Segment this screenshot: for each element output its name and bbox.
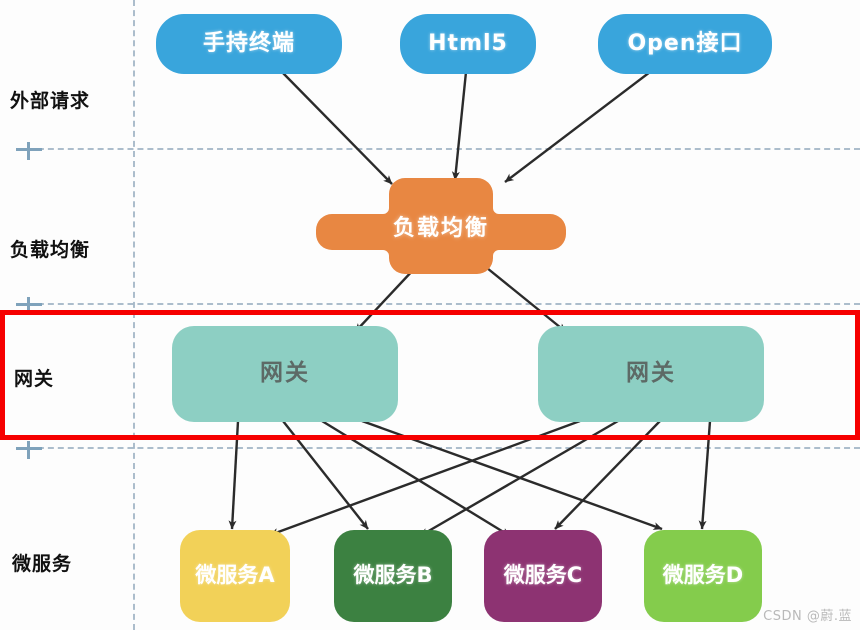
edge-loadbalancer-to-gateway2 <box>487 268 566 332</box>
node-label: 微服务B <box>353 564 432 587</box>
edge-gateway1-to-service-c <box>322 421 510 536</box>
architecture-diagram: 外部请求 负载均衡 网关 微服务 <box>0 0 860 630</box>
node-label: 手持终端 <box>203 32 295 56</box>
node-gateway-2[interactable]: 网关 <box>538 326 764 422</box>
node-label: 网关 <box>626 361 676 386</box>
node-client-html5[interactable]: Html5 <box>400 14 536 74</box>
node-label: 微服务D <box>663 564 743 587</box>
lane-label-microservice: 微服务 <box>12 549 72 576</box>
lane-tick-external-loadbalance <box>16 148 42 151</box>
lane-divider-gateway-microservice <box>18 447 860 449</box>
lane-tick-loadbalance-gateway <box>16 303 42 306</box>
edge-open-to-loadbalancer <box>505 72 650 182</box>
lane-divider-external-loadbalance <box>18 148 860 150</box>
edge-gateway2-to-service-b <box>420 421 618 536</box>
load-balancer-shape <box>316 178 566 274</box>
node-gateway-1[interactable]: 网关 <box>172 326 398 422</box>
node-client-mobile[interactable]: 手持终端 <box>156 14 342 74</box>
lane-vertical-divider <box>133 0 135 630</box>
lane-label-external: 外部请求 <box>10 86 90 113</box>
edge-gateway1-to-service-b <box>283 421 368 529</box>
node-service-d[interactable]: 微服务D <box>644 530 762 622</box>
edge-gateway2-to-service-a <box>270 421 580 535</box>
node-label: 网关 <box>260 361 310 386</box>
node-label: 微服务C <box>504 564 582 587</box>
edge-gateway2-to-service-c <box>555 421 660 529</box>
node-service-c[interactable]: 微服务C <box>484 530 602 622</box>
node-label: Open接口 <box>627 32 742 56</box>
lane-label-load-balance: 负载均衡 <box>10 235 90 262</box>
edge-loadbalancer-to-gateway1 <box>355 268 415 332</box>
watermark: CSDN @蔚.蓝 <box>763 605 852 624</box>
edge-gateway1-to-service-d <box>362 421 662 529</box>
lane-label-gateway: 网关 <box>14 364 54 391</box>
edge-gateway1-to-service-a <box>232 421 238 529</box>
node-label: Html5 <box>428 32 508 56</box>
edge-mobile-to-loadbalancer <box>282 72 392 184</box>
lane-divider-loadbalance-gateway <box>18 303 860 305</box>
node-client-open-api[interactable]: Open接口 <box>598 14 772 74</box>
node-load-balancer[interactable]: 负载均衡 <box>316 178 566 274</box>
edge-html5-to-loadbalancer <box>455 72 466 180</box>
edge-gateway2-to-service-d <box>702 421 710 529</box>
lane-tick-gateway-microservice <box>16 447 42 450</box>
node-service-a[interactable]: 微服务A <box>180 530 290 622</box>
node-service-b[interactable]: 微服务B <box>334 530 452 622</box>
node-label: 微服务A <box>195 564 274 587</box>
